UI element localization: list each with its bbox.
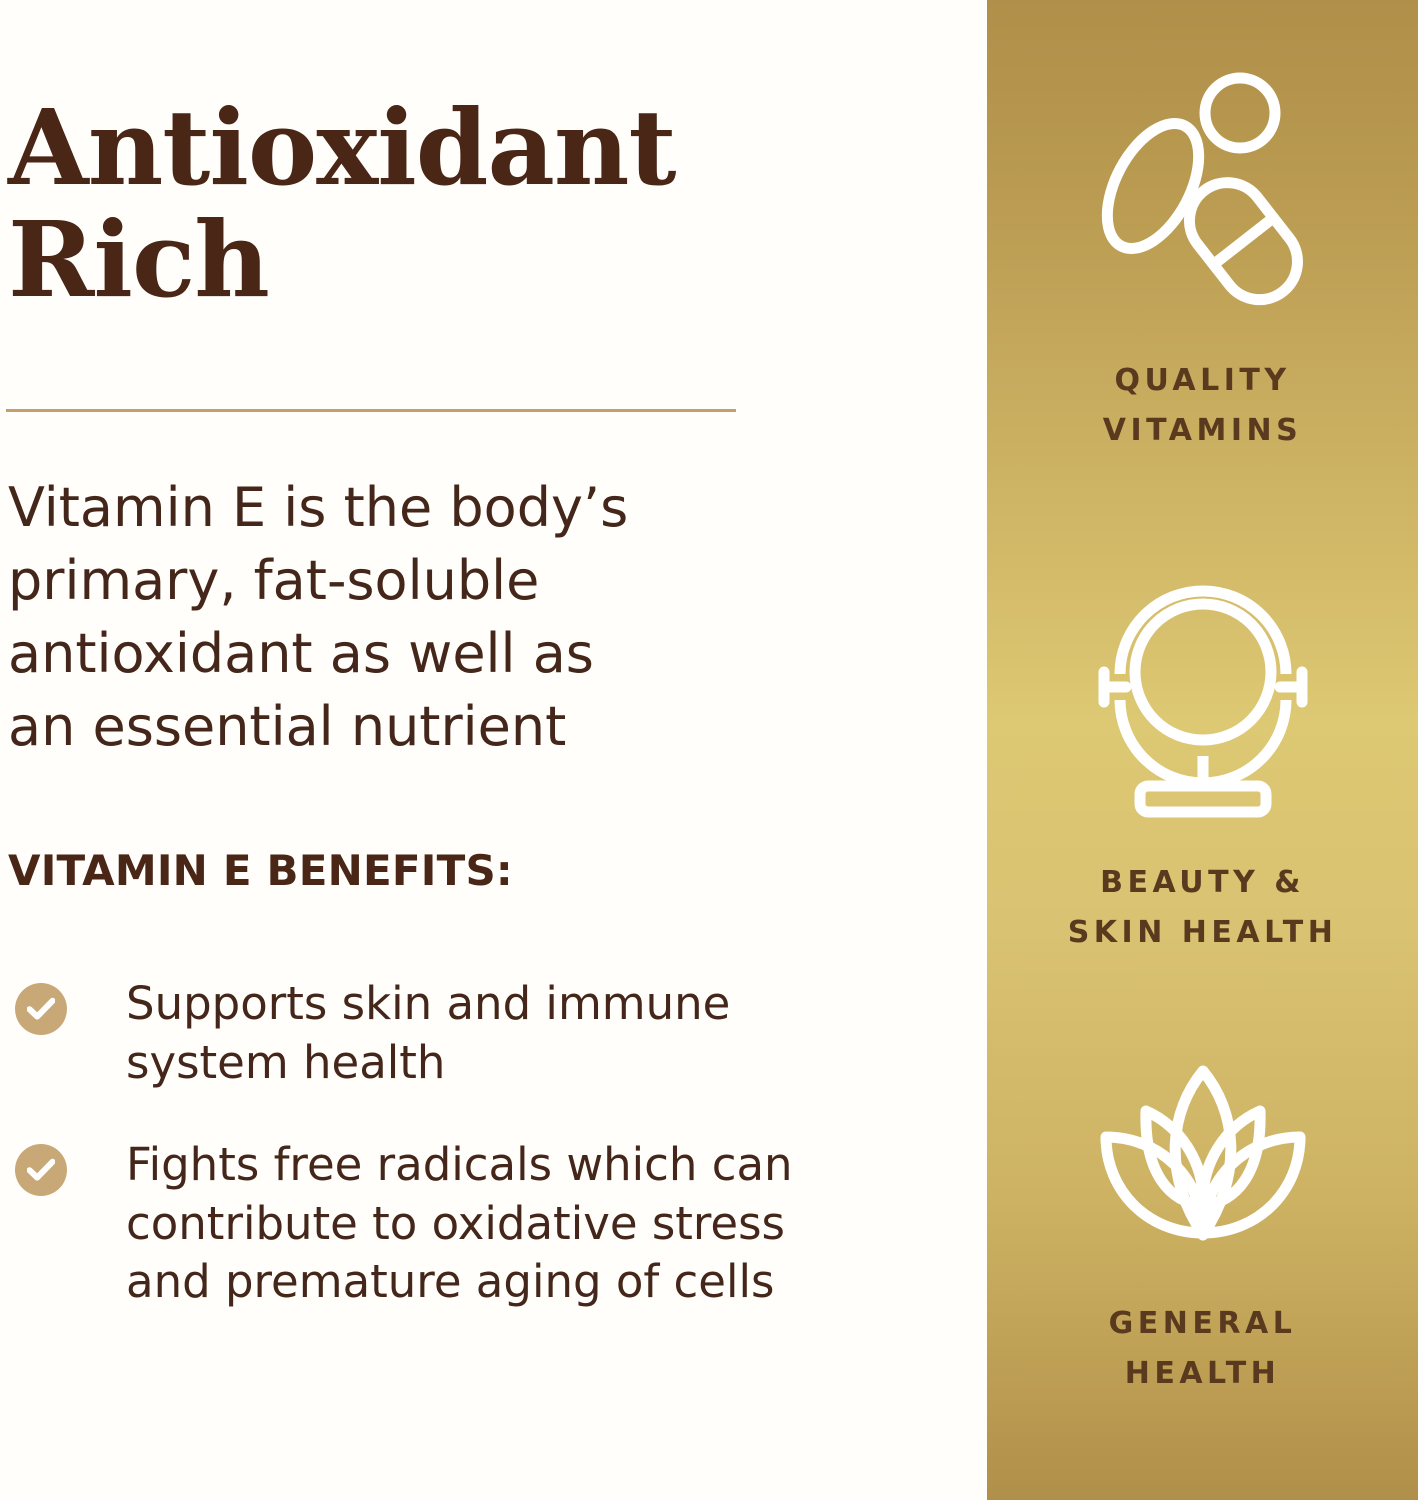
benefits-heading: VITAMIN E BENEFITS: — [8, 846, 513, 895]
check-icon — [15, 983, 67, 1035]
feature-label: GENERAL HEALTH — [987, 1299, 1418, 1398]
antioxidant-rich-infographic: Antioxidant Rich Vitamin E is the body’s… — [0, 0, 1418, 1500]
feature-quality-vitamins: QUALITY VITAMINS — [987, 70, 1418, 455]
feature-label: BEAUTY & SKIN HEALTH — [987, 858, 1418, 957]
content-column: Antioxidant Rich Vitamin E is the body’s… — [0, 0, 987, 1500]
list-item-label: Fights free radicals which can contribut… — [126, 1136, 826, 1312]
pills-icon — [1073, 70, 1333, 310]
list-item: Supports skin and immune system health — [8, 975, 908, 1092]
feature-label: QUALITY VITAMINS — [987, 356, 1418, 455]
benefits-list: Supports skin and immune system health F… — [8, 975, 908, 1356]
title-divider — [6, 409, 736, 412]
lotus-flower-icon — [1078, 1055, 1328, 1255]
intro-paragraph: Vitamin E is the body’s primary, fat-sol… — [8, 472, 668, 764]
features-panel: QUALITY VITAMINS BEAUTY & SKIN HEALTH — [987, 0, 1418, 1500]
page-title: Antioxidant Rich — [8, 92, 788, 317]
feature-beauty-skin-health: BEAUTY & SKIN HEALTH — [987, 560, 1418, 957]
list-item-label: Supports skin and immune system health — [126, 975, 826, 1092]
list-item: Fights free radicals which can contribut… — [8, 1136, 908, 1312]
vanity-mirror-icon — [1078, 560, 1328, 820]
feature-general-health: GENERAL HEALTH — [987, 1055, 1418, 1398]
check-icon — [15, 1144, 67, 1196]
